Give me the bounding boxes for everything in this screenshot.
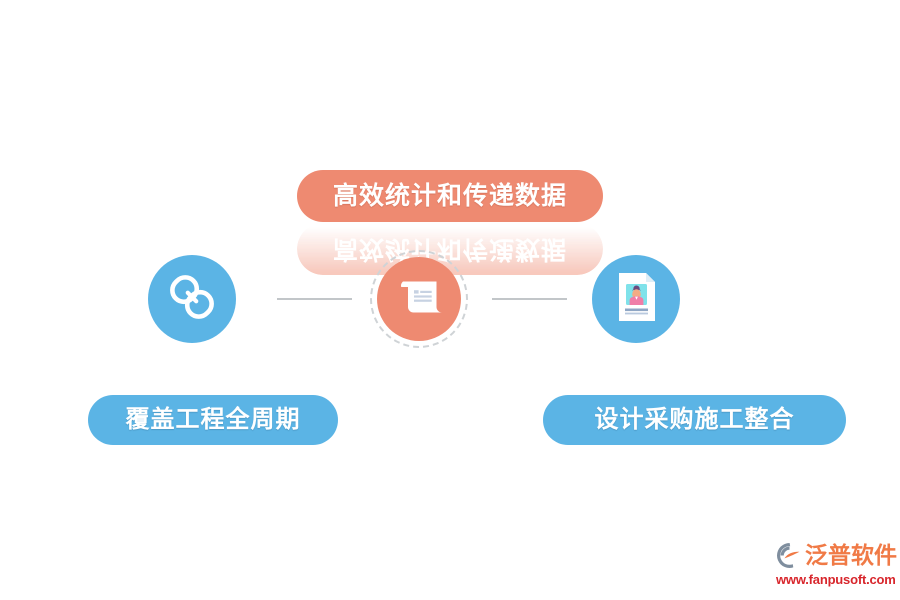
top-badge-label: 高效统计和传递数据: [333, 184, 567, 209]
bottom-pill-right[interactable]: 设计采购施工整合: [543, 395, 846, 445]
node-right-idcard[interactable]: [592, 255, 680, 343]
scroll-document-icon: [396, 274, 442, 325]
top-badge-group: 高效统计和传递数据 高效统计和传递数据: [297, 170, 603, 270]
brand-logo-row: 泛普软件: [776, 540, 891, 570]
node-left-chain[interactable]: [148, 255, 236, 343]
left-connector-line: [277, 298, 352, 300]
right-connector-line: [492, 298, 567, 300]
chain-link-icon: [166, 271, 218, 328]
top-badge-reflection-label: 高效统计和传递数据: [333, 237, 567, 262]
brand-logo-name: 泛普软件: [805, 544, 897, 567]
node-center-scroll[interactable]: [377, 257, 461, 341]
fanpu-swoosh-logo-icon: [776, 542, 803, 569]
id-card-portrait-icon: [610, 269, 662, 330]
bottom-pill-left-label: 覆盖工程全周期: [126, 408, 301, 432]
bottom-pill-left[interactable]: 覆盖工程全周期: [88, 395, 338, 445]
infographic-canvas: 高效统计和传递数据 高效统计和传递数据: [0, 0, 900, 600]
top-badge[interactable]: 高效统计和传递数据: [297, 170, 603, 222]
brand-logo-url: www.fanpusoft.com: [776, 573, 891, 586]
bottom-pill-right-label: 设计采购施工整合: [595, 408, 795, 432]
brand-logo[interactable]: 泛普软件 www.fanpusoft.com: [776, 540, 891, 590]
node-center-ring: [370, 250, 468, 348]
